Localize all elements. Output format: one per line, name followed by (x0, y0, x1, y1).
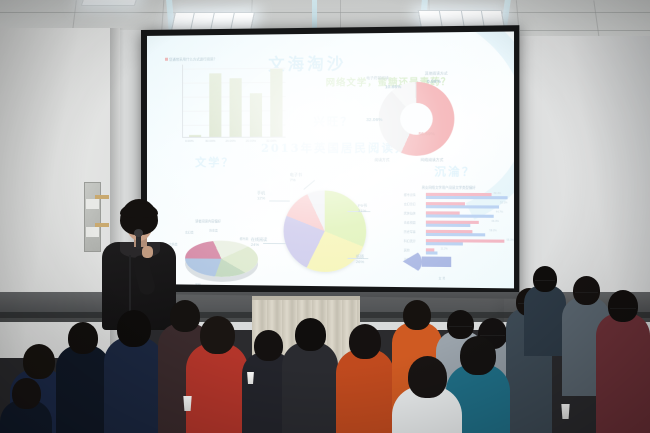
chart-bar-series (185, 64, 287, 137)
audience-torso (596, 313, 650, 433)
chart-bar-top-left: 您通常采用什么方式进行阅读？ 0.00% 30.00% 26.00% 20.00… (169, 56, 289, 153)
bar-xtick: 20.00% (246, 139, 256, 143)
hbar-value: 52.1% (500, 201, 507, 204)
presenter-fringe (120, 203, 158, 218)
donut-value: 10.66% (385, 84, 401, 89)
bar (230, 78, 242, 137)
bar-xtick: 30.00% (205, 139, 215, 143)
slide-surface: 文海淘沙 网络文学，蜜糖还是毒药？ 2013年英国居民阅读方式 兴旺？ 文学？ … (147, 31, 514, 288)
bar-xtick: 32.00% (266, 139, 276, 143)
hbar-value: 58.2% (489, 229, 496, 232)
audience-torso (282, 342, 338, 433)
donut-ring (379, 82, 455, 156)
audience-person (392, 356, 462, 433)
audience-head (460, 336, 496, 375)
audience-person (0, 378, 52, 433)
donut-value: 56.69% (419, 131, 435, 136)
hbar-value: 95.1% (507, 239, 514, 242)
audience-head (117, 310, 151, 347)
donut-value: 0.59% (427, 79, 441, 84)
chart-hbar-title: 男女网络文学用户阅读文学类型偏好 (422, 185, 476, 190)
hbar-value: 44.7% (496, 211, 503, 214)
pie3d-label: 都市类 (240, 237, 249, 241)
slide-keyword-2: 文学？ (195, 154, 234, 170)
glasses-icon (535, 280, 555, 284)
glasses-icon (575, 292, 598, 296)
donut-hole (400, 103, 433, 135)
pie3d-label: 其他 (195, 283, 201, 287)
audience-person (104, 310, 164, 433)
hbar-cat: 都市言情 (404, 193, 416, 197)
audience-person (336, 324, 394, 433)
pie-slices (284, 190, 367, 272)
donut-value: 32.06% (366, 117, 382, 122)
audience-head (403, 300, 431, 330)
microphone-head-icon (134, 229, 143, 237)
bar-xtick: 0.00% (185, 139, 194, 143)
projection-screen: 文海淘沙 网络文学，蜜糖还是毒药？ 2013年英国居民阅读方式 兴旺？ 文学？ … (141, 25, 519, 299)
hbar-legend: 女 男 (439, 276, 446, 280)
bar (250, 93, 262, 137)
bar (270, 69, 282, 137)
hbar-cat: 武侠仙侠 (404, 211, 416, 215)
pie-label: 手机 12% (257, 190, 265, 200)
audience-torso (104, 337, 164, 433)
audience-person (282, 318, 338, 433)
audience-head (23, 344, 55, 379)
chart-pie-main: P9书 31% 纸质 26% 在线阅读 24% 手机 12% (261, 176, 385, 283)
audience-person (186, 316, 248, 433)
audience-head (608, 290, 638, 322)
hbar-cat: 玄幻奇幻 (404, 202, 416, 206)
hbar-cat: 科幻灵异 (404, 239, 416, 243)
bar (189, 135, 201, 137)
audience-torso (336, 349, 394, 433)
donut-label: 其他阅读方式 (425, 71, 448, 76)
slide-keyword-1: 兴旺？ (313, 113, 353, 129)
pie-label: 电子书 7% (290, 172, 302, 182)
audience-person (524, 266, 566, 356)
glasses-icon (610, 308, 636, 312)
audience-head (68, 322, 98, 354)
pie-3d-slices (185, 240, 258, 277)
audience-head (349, 324, 381, 359)
audience-person (56, 322, 110, 433)
audience-torso (56, 345, 110, 433)
bar-xtick: 26.00% (225, 139, 235, 143)
audience-head (254, 330, 283, 361)
left-arrow-icon (403, 250, 451, 273)
paper-cup (560, 404, 571, 419)
hbar-value: 66.3% (492, 220, 499, 223)
audience-person (596, 290, 650, 433)
pie3d-label: 玄幻类 (185, 230, 193, 234)
audience-head (200, 316, 235, 354)
bar (209, 73, 221, 137)
audience-torso (186, 343, 248, 433)
chart-donut: 电子终端阅读 10.66% 其他阅读方式 0.59% 32.06% 阅读方式 5… (364, 71, 467, 172)
chart-pie-3d: 读者阅读内容偏好 言情类 玄幻类 历史类 都市类 其他 (169, 218, 274, 288)
hbar-cat: 青春校园 (404, 220, 416, 224)
donut-label: 阅读方式 (375, 158, 390, 163)
lecture-hall-photo: 文海淘沙 网络文学，蜜糖还是毒药？ 2013年英国居民阅读方式 兴旺？ 文学？ … (0, 0, 650, 433)
donut-label: 网络阅读方式 (421, 158, 444, 163)
hbar-value: 80.4% (494, 192, 501, 195)
audience-head (12, 378, 41, 409)
audience-torso (524, 285, 566, 356)
pie3d-label: 历史类 (209, 228, 218, 232)
presenter-hand (142, 246, 153, 258)
audience-head (295, 318, 326, 351)
chart-bar-title: 您通常采用什么方式进行阅读？ (169, 56, 217, 61)
chart-pie-3d-title: 读者阅读内容偏好 (195, 218, 221, 223)
audience-head (408, 356, 447, 398)
pie-label: 纸质 26% (356, 254, 364, 264)
donut-label: 电子终端阅读 (366, 76, 388, 81)
ceiling-light-panel (81, 0, 141, 6)
hbar-cat: 历史军事 (404, 230, 416, 234)
audience-head (533, 266, 557, 292)
pie-label: P9书 31% (358, 203, 367, 213)
